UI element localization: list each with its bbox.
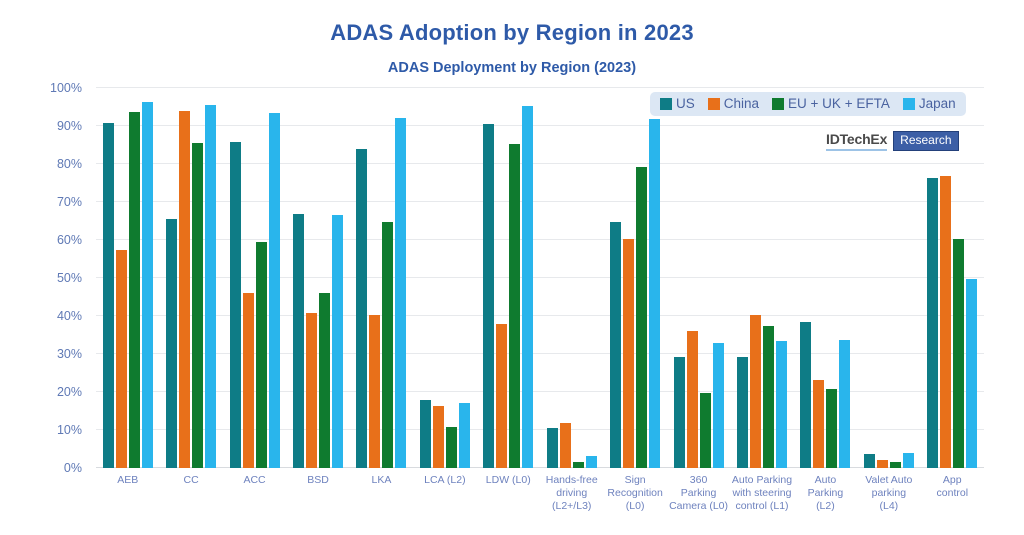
bar[interactable]: [700, 393, 711, 468]
chart-subtitle: ADAS Deployment by Region (2023): [0, 60, 1024, 76]
bar[interactable]: [205, 105, 216, 468]
bar[interactable]: [293, 214, 304, 468]
bar[interactable]: [839, 340, 850, 468]
y-axis-tick: 80%: [57, 157, 82, 171]
legend-swatch-icon: [772, 98, 784, 110]
x-axis-tick-label: CC: [159, 474, 222, 487]
bar[interactable]: [395, 118, 406, 468]
bar[interactable]: [547, 428, 558, 468]
bar[interactable]: [192, 143, 203, 468]
bar[interactable]: [800, 322, 811, 468]
bar[interactable]: [687, 331, 698, 468]
bar[interactable]: [230, 142, 241, 468]
bar[interactable]: [966, 279, 977, 468]
x-axis-tick-label: BSD: [286, 474, 349, 487]
bar[interactable]: [623, 239, 634, 468]
x-axis-tick-label: LKA: [350, 474, 413, 487]
bar[interactable]: [269, 113, 280, 468]
bar[interactable]: [713, 343, 724, 468]
y-axis-tick: 50%: [57, 271, 82, 285]
bar[interactable]: [750, 315, 761, 468]
bar[interactable]: [382, 222, 393, 468]
legend-item[interactable]: Japan: [903, 96, 956, 111]
legend-label: EU + UK + EFTA: [788, 96, 890, 111]
bar[interactable]: [420, 400, 431, 468]
bar[interactable]: [319, 293, 330, 468]
x-axis-tick-label: Auto Parking with steering control (L1): [730, 474, 793, 513]
legend-label: China: [724, 96, 759, 111]
bar[interactable]: [826, 389, 837, 468]
bar-group: [730, 88, 793, 468]
legend-swatch-icon: [660, 98, 672, 110]
bar[interactable]: [940, 176, 951, 468]
legend-item[interactable]: China: [708, 96, 759, 111]
bar[interactable]: [953, 239, 964, 468]
legend-item[interactable]: US: [660, 96, 695, 111]
bar[interactable]: [356, 149, 367, 468]
y-axis-tick: 100%: [50, 81, 82, 95]
bar[interactable]: [166, 219, 177, 468]
x-axis-tick-label: Valet Auto parking (L4): [857, 474, 920, 513]
bar[interactable]: [483, 124, 494, 468]
page-title: ADAS Adoption by Region in 2023: [0, 20, 1024, 46]
y-axis-tick: 30%: [57, 347, 82, 361]
bar-group: [350, 88, 413, 468]
bar[interactable]: [179, 111, 190, 468]
y-axis-tick: 0%: [64, 461, 82, 475]
bar[interactable]: [864, 454, 875, 468]
y-axis-tick: 20%: [57, 385, 82, 399]
x-axis-tick-label: Sign Recognition (L0): [603, 474, 666, 513]
bar-group: [286, 88, 349, 468]
bar[interactable]: [446, 427, 457, 468]
watermark-name: IDTechEx: [826, 131, 887, 151]
bar[interactable]: [369, 315, 380, 468]
bar-group: [667, 88, 730, 468]
legend-label: Japan: [919, 96, 956, 111]
x-axis-tick-label: LCA (L2): [413, 474, 476, 487]
bar[interactable]: [256, 242, 267, 468]
watermark-badge: Research: [893, 131, 958, 151]
y-axis-labels: 0%10%20%30%40%50%60%70%80%90%100%: [0, 88, 88, 468]
bar-group: [223, 88, 286, 468]
bar[interactable]: [496, 324, 507, 468]
bar[interactable]: [522, 106, 533, 468]
bar[interactable]: [890, 462, 901, 468]
bar[interactable]: [877, 460, 888, 468]
bar[interactable]: [243, 293, 254, 468]
bar[interactable]: [560, 423, 571, 468]
bar[interactable]: [610, 222, 621, 468]
chart-legend[interactable]: USChinaEU + UK + EFTAJapan: [650, 92, 966, 116]
bar[interactable]: [129, 112, 140, 468]
bar[interactable]: [649, 119, 660, 468]
x-axis-tick-label: App control: [921, 474, 984, 500]
x-axis-tick-label: Auto Parking (L2): [794, 474, 857, 513]
x-axis-tick-label: LDW (L0): [477, 474, 540, 487]
bar[interactable]: [927, 178, 938, 468]
bar[interactable]: [763, 326, 774, 469]
x-axis-tick-label: ACC: [223, 474, 286, 487]
bar[interactable]: [813, 380, 824, 468]
bar[interactable]: [116, 250, 127, 468]
x-axis-tick-label: Hands-free driving (L2+/L3): [540, 474, 603, 513]
y-axis-tick: 10%: [57, 423, 82, 437]
bar-group: [477, 88, 540, 468]
bar-group: [413, 88, 476, 468]
idtechex-watermark: IDTechEx Research: [826, 131, 959, 151]
x-axis-tick-label: 360 Parking Camera (L0): [667, 474, 730, 513]
bar[interactable]: [509, 144, 520, 468]
y-axis-tick: 40%: [57, 309, 82, 323]
legend-label: US: [676, 96, 695, 111]
bar[interactable]: [586, 456, 597, 468]
bar-group: [159, 88, 222, 468]
bar[interactable]: [636, 167, 647, 468]
bar[interactable]: [573, 462, 584, 468]
bar[interactable]: [903, 453, 914, 468]
bar-group: [603, 88, 666, 468]
bar[interactable]: [142, 102, 153, 468]
bar[interactable]: [459, 403, 470, 468]
bar[interactable]: [737, 357, 748, 468]
bar[interactable]: [332, 215, 343, 468]
y-axis-tick: 70%: [57, 195, 82, 209]
x-axis-tick-label: AEB: [96, 474, 159, 487]
bar-group: [96, 88, 159, 468]
bar[interactable]: [433, 406, 444, 468]
bar[interactable]: [674, 357, 685, 468]
bar-group: [540, 88, 603, 468]
legend-swatch-icon: [708, 98, 720, 110]
x-axis-labels: AEBCCACCBSDLKALCA (L2)LDW (L0)Hands-free…: [96, 474, 984, 534]
bar[interactable]: [103, 123, 114, 468]
y-axis-tick: 90%: [57, 119, 82, 133]
legend-item[interactable]: EU + UK + EFTA: [772, 96, 890, 111]
legend-swatch-icon: [903, 98, 915, 110]
bar[interactable]: [776, 341, 787, 468]
y-axis-tick: 60%: [57, 233, 82, 247]
chart-page: ADAS Adoption by Region in 2023 ADAS Dep…: [0, 0, 1024, 535]
bar[interactable]: [306, 313, 317, 468]
